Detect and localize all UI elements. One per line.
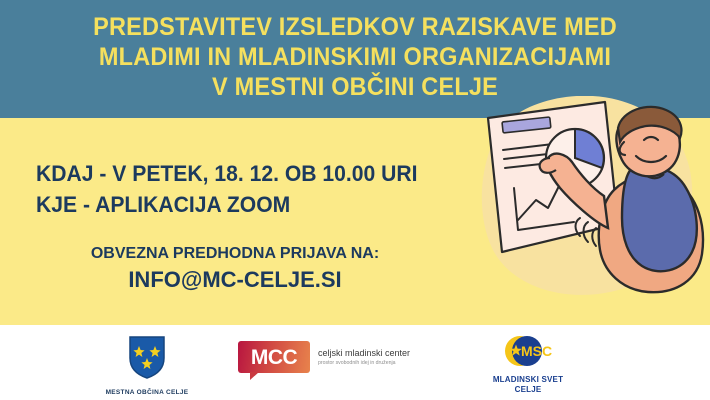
mcc-subtitle: prostor svobodnih idej in druženja xyxy=(318,359,410,367)
title-line-2: MLADIMI IN MLADINSKIMI ORGANIZACIJAMI xyxy=(21,42,688,72)
signup-block: OBVEZNA PREDHODNA PRIJAVA NA: INFO@MC-CE… xyxy=(0,243,470,295)
logo-msc: MSC MLADINSKI SVET CELJE xyxy=(468,336,588,395)
poster-title: PREDSTAVITEV IZSLEDKOV RAZISKAVE MED MLA… xyxy=(0,12,710,102)
logo-mcc: MCC celjski mladinski center prostor svo… xyxy=(238,341,410,373)
title-line-1: PREDSTAVITEV IZSLEDKOV RAZISKAVE MED xyxy=(21,12,688,42)
msc-caption-line-2: CELJE xyxy=(468,385,588,395)
mcc-letters: MCC xyxy=(251,347,297,368)
poster-root: PREDSTAVITEV IZSLEDKOV RAZISKAVE MED MLA… xyxy=(0,0,710,400)
event-details: KDAJ - V PETEK, 18. 12. OB 10.00 URI KJE… xyxy=(36,158,433,220)
celje-coat-of-arms-shield xyxy=(127,334,167,380)
title-line-3: V MESTNI OBČINI CELJE xyxy=(21,72,688,102)
msc-caption-line-1: MLADINSKI SVET xyxy=(468,375,588,385)
person-presenting-chart-illustration xyxy=(462,96,710,311)
msc-letters: MSC xyxy=(521,343,552,359)
celje-logo-caption: MESTNA OBČINA CELJE xyxy=(92,389,202,396)
mcc-title: celjski mladinski center xyxy=(318,348,410,359)
msc-circle-icon: MSC xyxy=(497,336,559,370)
event-when-line: KDAJ - V PETEK, 18. 12. OB 10.00 URI xyxy=(36,158,417,189)
signup-prompt: OBVEZNA PREDHODNA PRIJAVA NA: xyxy=(0,243,470,265)
mcc-wordmark: celjski mladinski center prostor svobodn… xyxy=(318,348,410,367)
signup-email[interactable]: INFO@MC-CELJE.SI xyxy=(0,265,470,295)
logo-mestna-obcina-celje: MESTNA OBČINA CELJE xyxy=(92,334,202,396)
event-where-line: KJE - APLIKACIJA ZOOM xyxy=(36,189,417,220)
mcc-speech-bubble-icon: MCC xyxy=(238,341,310,373)
